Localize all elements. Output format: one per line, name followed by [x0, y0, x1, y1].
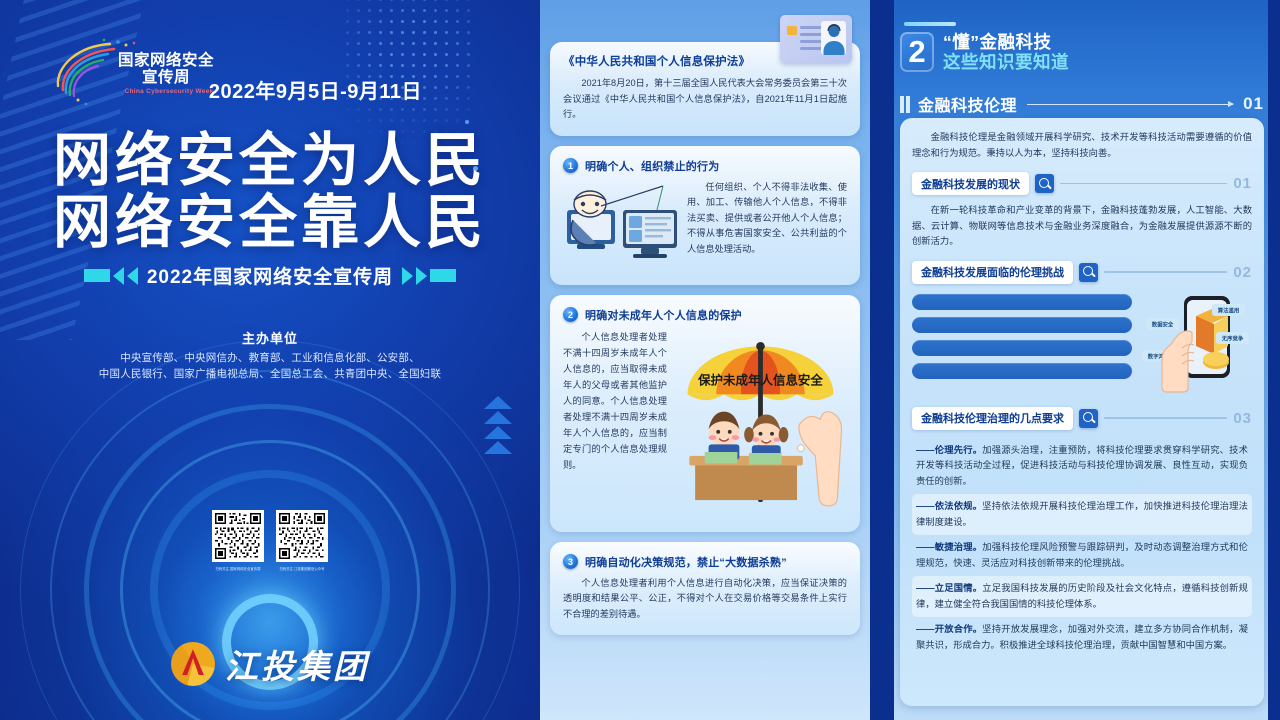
point-card-2: 2 明确对未成年人个人信息的保护 个人信息处理者处理不满十四周岁未成年人个人信息…	[550, 295, 860, 532]
requirement-lead: ——立足国情。	[916, 583, 982, 593]
svg-text:数据安全: 数据安全	[1152, 320, 1174, 328]
qr-code-1[interactable]: 扫码关注 国家网络安全宣传周	[212, 510, 264, 562]
qr-code-group: 扫码关注 国家网络安全宣传周	[212, 510, 328, 562]
block-3-header: 金融科技伦理治理的几点要求 03	[912, 407, 1252, 430]
right-panel-left-strip	[870, 0, 894, 720]
requirement-lead: ——开放合作。	[916, 624, 982, 634]
point-2-header: 2 明确对未成年人个人信息的保护	[563, 307, 847, 323]
subsection-title: 金融科技伦理	[918, 92, 1017, 116]
subsection-bars-icon	[900, 96, 910, 113]
ribbon-left-chevrons	[84, 267, 138, 285]
cybersecurity-week-logo: 国家网络安全 宣传周 China Cybersecurity Week	[48, 38, 223, 108]
law-intro-card: 《中华人民共和国个人信息保护法》 2021年8月20日，第十三届全国人民代表大会…	[550, 42, 860, 136]
ribbon-right-chevrons	[402, 267, 456, 285]
magnifier-icon	[1079, 263, 1098, 282]
subsection-index: 01	[1243, 94, 1264, 114]
event-date-range: 2022年9月5日-9月11日	[209, 75, 422, 104]
connector-line	[1104, 271, 1227, 273]
decor-dot	[465, 120, 469, 124]
point-1-header: 1 明确个人、组织禁止的行为	[563, 158, 847, 174]
redacted-bars-group	[912, 292, 1132, 379]
connector-line	[1104, 417, 1227, 419]
intro-paragraph: 金融科技伦理是金融领域开展科学研究、技术开发等科技活动需要遵循的价值理念和行为规…	[912, 130, 1252, 161]
block-2-pill-label: 金融科技发展面临的伦理挑战	[912, 261, 1073, 284]
point-1-heading: 明确个人、组织禁止的行为	[585, 158, 719, 174]
fintech-phone-scene-icon: 数据安全 算法滥用 无序竞争 数字鸿沟	[1140, 292, 1252, 396]
subsection-header: 金融科技伦理 01	[900, 92, 1264, 116]
requirement-lead: ——伦理先行。	[916, 445, 982, 455]
point-2-heading: 明确对未成年人个人信息的保护	[585, 307, 742, 323]
point-3-header: 3 明确自动化决策规范，禁止“大数据杀熟”	[563, 554, 847, 570]
header-accent-dash	[904, 22, 956, 26]
redacted-bar	[912, 294, 1132, 310]
company-logo-mark-icon	[171, 642, 215, 686]
phishing-scene-icon	[563, 180, 681, 272]
requirement-item: ——伦理先行。加强源头治理，注重预防，将科技伦理要求贯穿科学研究、技术开发等科技…	[912, 438, 1252, 495]
connector-line	[1060, 183, 1227, 185]
qr-code-icon	[215, 513, 261, 559]
poster-stage: 国家网络安全 宣传周 China Cybersecurity Week 2022…	[0, 0, 1280, 720]
umbrella-illustration: 保护未成年人信息安全	[674, 329, 847, 519]
block-1-pill-label: 金融科技发展的现状	[912, 172, 1029, 195]
phishing-illustration	[563, 180, 681, 272]
point-3-body: 个人信息处理者利用个人信息进行自动化决策，应当保证决策的透明度和结果公平、公正，…	[563, 576, 847, 623]
logo-line1: 国家网络安全	[118, 52, 214, 69]
law-body: 2021年8月20日，第十三届全国人民代表大会常务委员会第三十次会议通过《中华人…	[563, 76, 847, 123]
block-1-body: 在新一轮科技革命和产业变革的背景下，金融科技蓬勃发展，人工智能、大数据、云计算、…	[912, 203, 1252, 250]
qr-caption-2: 扫码关注 江投集团微信公众号	[276, 566, 328, 571]
main-title-line1: 网络安全为人民	[0, 130, 540, 192]
section-number-badge: 2	[900, 32, 934, 72]
point-card-3: 3 明确自动化决策规范，禁止“大数据杀熟” 个人信息处理者利用个人信息进行自动化…	[550, 542, 860, 636]
point-3-number-badge: 3	[563, 554, 578, 569]
company-logo: 江投集团	[171, 640, 369, 688]
block-2-header: 金融科技发展面临的伦理挑战 02	[912, 261, 1252, 284]
poster-main-title: 网络安全为人民 网络安全靠人民	[0, 130, 540, 254]
point-2-body: 个人信息处理者处理不满十四周岁未成年人个人信息的，应当取得未成年人的父母或者其他…	[563, 329, 667, 519]
requirement-item: ——立足国情。立足我国科技发展的历史阶段及社会文化特点，遵循科技创新规律，建立健…	[912, 576, 1252, 617]
point-1-body: 任何组织、个人不得非法收集、使用、加工、传输他人个人信息，不得非法买卖、提供或者…	[687, 180, 847, 272]
section-header: 2 “懂”金融科技 这些知识要知道	[900, 32, 1069, 73]
subtitle-ribbon: 2022年国家网络安全宣传周	[0, 262, 540, 289]
svg-text:算法滥用: 算法滥用	[1218, 306, 1240, 314]
requirement-lead: ——敏捷治理。	[916, 542, 982, 552]
qr-code-2[interactable]: 扫码关注 江投集团微信公众号	[276, 510, 328, 562]
magnifier-icon	[1079, 409, 1098, 428]
right-panel-right-strip	[1268, 0, 1280, 720]
logo-text: 国家网络安全 宣传周	[110, 52, 222, 86]
section-title-line1: “懂”金融科技	[943, 32, 1069, 52]
requirement-item: ——开放合作。坚持开放发展理念，加强对外交流，建立多方协同合作机制，凝聚共识，形…	[912, 617, 1252, 658]
svg-text:无序竞争: 无序竞争	[1222, 334, 1244, 342]
qr-caption-1: 扫码关注 国家网络安全宣传周	[212, 566, 264, 571]
content-card: 金融科技伦理是金融领域开展科学研究、技术开发等科技活动需要遵循的价值理念和行为规…	[900, 118, 1264, 706]
block-1-index: 01	[1233, 175, 1252, 192]
umbrella-children-scene-icon: 保护未成年人信息安全	[674, 329, 847, 512]
ribbon-text: 2022年国家网络安全宣传周	[147, 262, 393, 289]
phone-hand-illustration: 数据安全 算法滥用 无序竞争 数字鸿沟	[1140, 292, 1252, 396]
right-infographic-panel: 2 “懂”金融科技 这些知识要知道 金融科技伦理 01 金融科技伦理是金融领域开…	[870, 0, 1280, 720]
block-3-pill-label: 金融科技伦理治理的几点要求	[912, 407, 1073, 430]
id-card-icon	[780, 15, 852, 63]
main-title-line2: 网络安全靠人民	[0, 192, 540, 254]
requirement-item: ——敏捷治理。加强科技伦理风险预警与跟踪研判，及时动态调整治理方式和伦理规范，快…	[912, 535, 1252, 576]
requirement-item: ——依法依规。坚持依法依规开展科技伦理治理工作，加快推进科技伦理治理法律制度建设…	[912, 494, 1252, 535]
redacted-bar	[912, 340, 1132, 356]
left-poster-panel: 国家网络安全 宣传周 China Cybersecurity Week 2022…	[0, 0, 540, 720]
block-2-index: 02	[1233, 264, 1252, 281]
middle-infographic-panel: 《中华人民共和国个人信息保护法》 2021年8月20日，第十三届全国人民代表大会…	[540, 0, 870, 720]
subsection-arrow-line	[1027, 104, 1233, 105]
point-card-1: 1 明确个人、组织禁止的行为	[550, 146, 860, 285]
point-2-number-badge: 2	[563, 307, 578, 322]
requirement-lead: ——依法依规。	[916, 501, 982, 511]
section-title-line2: 这些知识要知道	[943, 52, 1069, 73]
redacted-bar	[912, 317, 1132, 333]
company-logo-text: 江投集团	[225, 640, 369, 688]
qr-code-icon	[279, 513, 325, 559]
block-1-header: 金融科技发展的现状 01	[912, 172, 1252, 195]
point-1-number-badge: 1	[563, 158, 578, 173]
magnifier-icon	[1035, 174, 1054, 193]
redacted-bar	[912, 363, 1132, 379]
point-3-heading: 明确自动化决策规范，禁止“大数据杀熟”	[585, 554, 787, 570]
block-3-index: 03	[1233, 410, 1252, 427]
logo-line2: 宣传周	[110, 69, 222, 86]
svg-text:保护未成年人信息安全: 保护未成年人信息安全	[697, 372, 823, 387]
